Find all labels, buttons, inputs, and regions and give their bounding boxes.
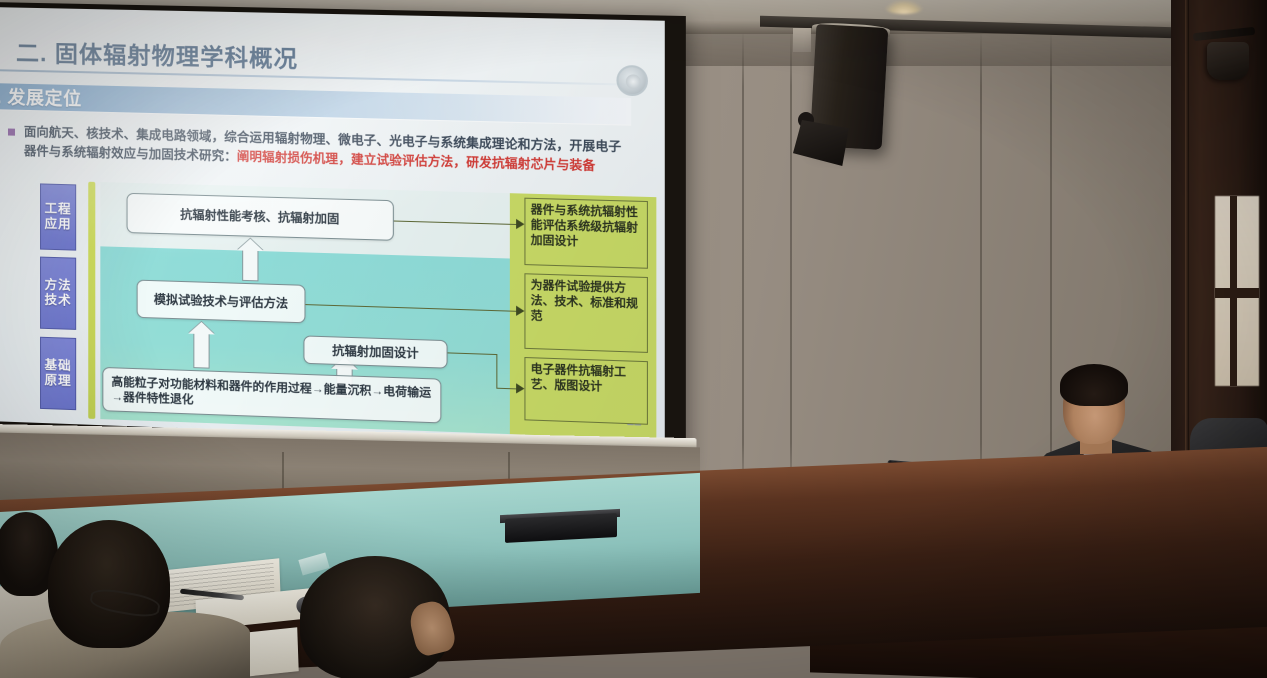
wall-seam: [1050, 30, 1052, 500]
stage-label-application: 工程应用: [40, 183, 76, 250]
audience-head: [48, 520, 170, 648]
diagram-node-assessment: 抗辐射性能考核、抗辐射加固: [127, 193, 394, 241]
up-arrow-icon: [242, 249, 258, 282]
presenter-hair: [1060, 364, 1128, 406]
speaker-wall-plate: [793, 28, 811, 52]
ceiling-light: [884, 0, 924, 14]
presentation-slide: 》 二. 固体辐射物理学科概况 1. 发展定位 面向航天、核技术、集成电路领域，…: [0, 7, 665, 446]
diagram-accent-bar: [88, 182, 95, 419]
arrow-head-icon: [516, 219, 524, 229]
wall-seam: [742, 30, 744, 500]
stage-label-principle: 基础原理: [40, 337, 76, 410]
projection-screen: 》 二. 固体辐射物理学科概况 1. 发展定位 面向航天、核技术、集成电路领域，…: [0, 2, 686, 468]
arrow-head-icon: [516, 306, 524, 316]
stage-label-method: 方法技术: [40, 257, 76, 330]
wall-seam: [790, 30, 792, 500]
up-arrow-icon: [193, 332, 209, 369]
slide-diagram: 工程应用 方法技术 基础原理 抗辐射性能考核、抗辐射加固 模拟试验技术与评估方法…: [40, 180, 656, 443]
slide-bullet-block: 面向航天、核技术、集成电路领域，综合运用辐射物理、微电子、光电子与系统集成理论和…: [8, 122, 633, 177]
chevron-icon: 》: [0, 31, 6, 68]
conference-room-photo: 》 二. 固体辐射物理学科概况 1. 发展定位 面向航天、核技术、集成电路领域，…: [0, 0, 1267, 678]
bullet-square-icon: [8, 129, 15, 136]
bullet-paragraph: 面向航天、核技术、集成电路领域，综合运用辐射物理、微电子、光电子与系统集成理论和…: [24, 123, 633, 177]
connector-line: [496, 354, 497, 389]
slide-title-row: 》 二. 固体辐射物理学科概况: [0, 33, 665, 82]
diagram-output-system-assessment: 器件与系统抗辐射性能评估系统级抗辐射加固设计: [524, 198, 648, 269]
diagram-node-hardening: 抗辐射加固设计: [303, 335, 447, 368]
ceiling-camera-icon: [1207, 42, 1249, 80]
arrow-head-icon: [516, 383, 524, 394]
diagram-output-process-layout: 电子器件抗辐射工艺、版图设计: [524, 357, 648, 425]
slide-subtitle: 1. 发展定位: [0, 83, 82, 111]
window-mullion: [1215, 288, 1259, 298]
slide-subtitle-bar: 1. 发展定位: [0, 83, 631, 125]
diagram-node-simulation: 模拟试验技术与评估方法: [137, 280, 306, 324]
institution-emblem-icon: [616, 65, 648, 96]
wall-seam: [980, 30, 982, 500]
page-title: 二. 固体辐射物理学科概况: [16, 34, 298, 74]
diagram-output-test-standards: 为器件试验提供方法、技术、标准和规范: [524, 273, 648, 353]
